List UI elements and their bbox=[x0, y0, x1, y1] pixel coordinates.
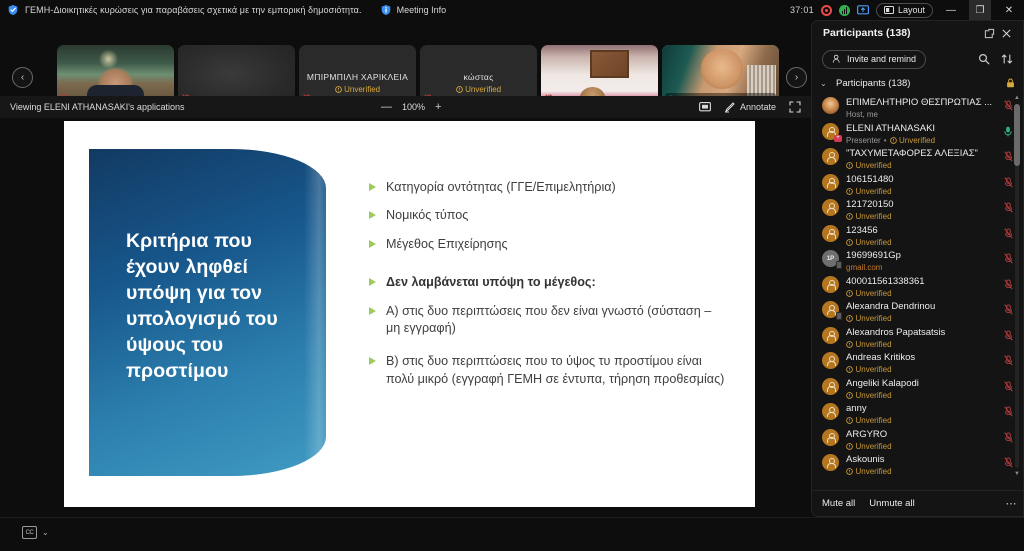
bullet-triangle-icon bbox=[369, 307, 376, 315]
shield-icon bbox=[7, 4, 19, 16]
bullet-triangle-icon bbox=[369, 211, 376, 219]
slide-bullet-heading: Δεν λαμβάνεται υπόψη το μέγεθος: bbox=[369, 274, 727, 291]
slide-bullet-text: Κατηγορία οντότητας (ΓΓΕ/Επιμελητήρια) bbox=[386, 179, 616, 196]
video-filmstrip: ‹ › ΜΠΙΡΜΠΙΛΗ ΧΑΡΙΚΛΕΙΑ Unverified bbox=[0, 20, 811, 94]
participant-row[interactable]: ARGYRO Unverified bbox=[812, 425, 1023, 451]
avatar bbox=[822, 378, 839, 395]
zoom-level-label: 100% bbox=[402, 102, 425, 112]
avatar bbox=[822, 327, 839, 344]
participants-panel-header: Participants (138) bbox=[812, 21, 1023, 45]
slide-bullet: Νομικός τύπος bbox=[369, 207, 727, 224]
mic-off-icon[interactable] bbox=[1001, 228, 1015, 239]
participant-name: 106151480 bbox=[846, 174, 894, 185]
closed-captions-icon: CC bbox=[22, 526, 37, 539]
participant-row[interactable]: 400011561338361 Unverified bbox=[812, 272, 1023, 298]
tile-participant-name: κώστας bbox=[420, 72, 537, 82]
filmstrip-prev-button[interactable]: ‹ bbox=[12, 67, 33, 88]
meeting-toolbar: CC ⌄ Unmute ⌄ Stop video ⌄ bbox=[0, 517, 1024, 551]
slide-bullet-list: Κατηγορία οντότητας (ΓΓΕ/Επιμελητήρια) Ν… bbox=[369, 179, 727, 399]
chevron-down-icon[interactable]: ⌄ bbox=[42, 528, 49, 537]
mic-on-icon[interactable] bbox=[1001, 126, 1015, 137]
unverified-label: Unverified bbox=[856, 467, 892, 476]
bullet-triangle-icon bbox=[369, 183, 376, 191]
window-controls: 37:01 Layout — ❐ ✕ bbox=[790, 0, 1024, 20]
participants-group-header[interactable]: ⌄ Participants (138) bbox=[812, 73, 1023, 93]
meeting-title: ΓΕΜΗ-Διοικητικές κυρώσεις για παραβάσεις… bbox=[25, 5, 362, 15]
participant-meta: 121720150 Unverified bbox=[846, 194, 994, 221]
slide-bullet-text: Μέγεθος Επιχείρησης bbox=[386, 236, 508, 253]
participant-name: Angeliki Kalapodi bbox=[846, 378, 919, 389]
window-title-bar: ΓΕΜΗ-Διοικητικές κυρώσεις για παραβάσεις… bbox=[0, 0, 1024, 20]
participant-name: anny bbox=[846, 403, 867, 414]
avatar bbox=[822, 454, 839, 471]
layout-button[interactable]: Layout bbox=[876, 3, 933, 18]
close-window-button[interactable]: ✕ bbox=[998, 0, 1020, 20]
participant-meta: Andreas Kritikos Unverified bbox=[846, 347, 994, 374]
participant-meta: 123456 Unverified bbox=[846, 220, 994, 247]
avatar bbox=[822, 174, 839, 191]
maximize-restore-button[interactable]: ❐ bbox=[969, 0, 991, 20]
network-quality-icon[interactable] bbox=[839, 5, 850, 16]
view-options-icon[interactable] bbox=[699, 101, 711, 113]
screen-share-status-icon[interactable] bbox=[857, 5, 869, 16]
mic-off-icon[interactable] bbox=[1001, 330, 1015, 341]
meeting-info-label: Meeting Info bbox=[397, 5, 447, 15]
zoom-meeting-window: ΓΕΜΗ-Διοικητικές κυρώσεις για παραβάσεις… bbox=[0, 0, 1024, 551]
unverified-badge: Unverified bbox=[846, 467, 892, 476]
meeting-timer: 37:01 bbox=[790, 5, 814, 15]
meeting-info-button[interactable]: Meeting Info bbox=[380, 4, 447, 16]
zoom-controls: — 100% + bbox=[381, 96, 441, 118]
tile-unverified-text: Unverified bbox=[344, 85, 380, 94]
participant-name: Alexandros Papatsatsis bbox=[846, 327, 945, 338]
viewing-label: Viewing ELENI ATHANASAKI's applications bbox=[10, 102, 184, 112]
participant-row[interactable]: 121720150 Unverified bbox=[812, 195, 1023, 221]
participant-meta: 19699691Gp gmail.com bbox=[846, 245, 994, 272]
tile-unverified-text: Unverified bbox=[465, 85, 501, 94]
tile-unverified-label: Unverified bbox=[420, 85, 537, 94]
tile-unverified-label: Unverified bbox=[299, 85, 416, 94]
participant-meta: ARGYRO Unverified bbox=[846, 424, 994, 451]
layout-icon bbox=[884, 6, 894, 14]
slide-bullet: Β) στις δυο περιπτώσεις που το ύψος τυ π… bbox=[369, 353, 727, 388]
participant-row[interactable]: anny Unverified bbox=[812, 399, 1023, 425]
bullet-triangle-icon bbox=[369, 240, 376, 248]
search-icon[interactable] bbox=[975, 51, 992, 68]
participant-row[interactable]: ΕΠΙΜΕΛΗΤΗΡΙΟ ΘΕΣΠΡΩΤΙΑΣ ... Host, me bbox=[812, 93, 1023, 119]
participant-meta: anny Unverified bbox=[846, 398, 994, 425]
participants-group-label: Participants (138) bbox=[836, 78, 1000, 89]
participants-more-button[interactable]: ⋯ bbox=[1006, 497, 1018, 510]
zoom-out-button[interactable]: — bbox=[381, 102, 392, 113]
device-badge-icon bbox=[836, 261, 842, 269]
mic-off-icon[interactable] bbox=[1001, 279, 1015, 290]
participant-row[interactable]: ELENI ATHANASAKI Presenter • Unverified bbox=[812, 119, 1023, 145]
avatar bbox=[822, 97, 839, 114]
slide-bullet: Κατηγορία οντότητας (ΓΓΕ/Επιμελητήρια) bbox=[369, 179, 727, 196]
mic-off-icon[interactable] bbox=[1001, 355, 1015, 366]
participant-role: Unverified bbox=[846, 467, 994, 476]
participant-name: "ΤΑΧΥΜΕΤΑΦΟΡΕΣ ΑΛΕΞΙΑΣ" bbox=[846, 148, 978, 159]
screen-share-viewing-bar: Viewing ELENI ATHANASAKI's applications … bbox=[0, 96, 811, 118]
slide-bullet-text: Νομικός τύπος bbox=[386, 207, 468, 224]
participant-name: ARGYRO bbox=[846, 429, 887, 440]
avatar bbox=[822, 352, 839, 369]
participants-list[interactable]: ΕΠΙΜΕΛΗΤΗΡΙΟ ΘΕΣΠΡΩΤΙΑΣ ... Host, me ELE… bbox=[812, 93, 1023, 479]
participant-name: Askounis bbox=[846, 454, 885, 465]
participant-meta: "ΤΑΧΥΜΕΤΑΦΟΡΕΣ ΑΛΕΞΙΑΣ" Unverified bbox=[846, 143, 994, 170]
mic-off-icon[interactable] bbox=[1001, 100, 1015, 111]
avatar: 1P bbox=[822, 250, 839, 267]
zoom-in-button[interactable]: + bbox=[435, 102, 441, 113]
filmstrip-next-button[interactable]: › bbox=[786, 67, 807, 88]
participant-row[interactable]: Alexandros Papatsatsis Unverified bbox=[812, 323, 1023, 349]
mic-off-icon[interactable] bbox=[1001, 177, 1015, 188]
participant-meta: 106151480 Unverified bbox=[846, 169, 994, 196]
avatar bbox=[822, 403, 839, 420]
participant-name: 121720150 bbox=[846, 199, 894, 210]
scroll-up-icon[interactable]: ▲ bbox=[1014, 95, 1020, 101]
mic-off-icon[interactable] bbox=[1001, 457, 1015, 468]
avatar bbox=[822, 301, 839, 318]
scrollbar-thumb[interactable] bbox=[1014, 104, 1020, 166]
participant-name: 400011561338361 bbox=[846, 276, 925, 287]
participant-row[interactable]: Alexandra Dendrinou Unverified bbox=[812, 297, 1023, 323]
slide-bullet: Μέγεθος Επιχείρησης bbox=[369, 236, 727, 253]
mute-all-button[interactable]: Mute all bbox=[822, 498, 855, 509]
viewing-bar-actions: Annotate bbox=[699, 96, 811, 118]
mic-off-icon[interactable] bbox=[1001, 304, 1015, 315]
mic-off-icon[interactable] bbox=[1001, 202, 1015, 213]
participant-name: 19699691Gp bbox=[846, 250, 901, 261]
mic-off-icon[interactable] bbox=[1001, 406, 1015, 417]
slide-bullet-text: Α) στις δυο περιπτώσεις που δεν είναι γν… bbox=[386, 303, 727, 338]
closed-captions-button[interactable]: CC ⌄ bbox=[22, 526, 49, 539]
participant-meta: ELENI ATHANASAKI Presenter • Unverified bbox=[846, 118, 994, 145]
mic-off-icon[interactable] bbox=[1001, 432, 1015, 443]
annotate-button[interactable]: Annotate bbox=[724, 101, 776, 113]
participant-row[interactable]: Andreas Kritikos Unverified bbox=[812, 348, 1023, 374]
slide-bullet-text: Β) στις δυο περιπτώσεις που το ύψος τυ π… bbox=[386, 353, 727, 388]
presenter-badge-icon bbox=[834, 135, 842, 142]
bullet-triangle-icon bbox=[369, 278, 376, 286]
slide-title-panel: Κριτήρια που έχουν ληφθεί υπόψη για τον … bbox=[89, 149, 326, 476]
avatar bbox=[822, 276, 839, 293]
participant-meta: Alexandros Papatsatsis Unverified bbox=[846, 322, 994, 349]
participant-row[interactable]: 1P 19699691Gp gmail.com bbox=[812, 246, 1023, 272]
participants-scrollbar[interactable]: ▲ ▼ bbox=[1014, 97, 1020, 475]
shared-content-stage: Κριτήρια που έχουν ληφθεί υπόψη για τον … bbox=[0, 118, 811, 517]
slide-bullet-text: Δεν λαμβάνεται υπόψη το μέγεθος: bbox=[386, 274, 596, 291]
invite-and-remind-button[interactable]: Invite and remind bbox=[822, 50, 926, 69]
avatar bbox=[822, 148, 839, 165]
participant-name: ELENI ATHANASAKI bbox=[846, 123, 935, 134]
avatar bbox=[822, 199, 839, 216]
bullet-triangle-icon bbox=[369, 357, 376, 365]
avatar bbox=[822, 123, 839, 140]
annotate-label: Annotate bbox=[740, 102, 776, 112]
minimize-button[interactable]: — bbox=[940, 0, 962, 20]
participant-meta: Angeliki Kalapodi Unverified bbox=[846, 373, 994, 400]
participant-row[interactable]: Askounis Unverified bbox=[812, 450, 1023, 476]
close-icon[interactable] bbox=[998, 25, 1015, 42]
person-add-icon bbox=[832, 54, 842, 64]
slide-title: Κριτήρια που έχουν ληφθεί υπόψη για τον … bbox=[126, 229, 306, 385]
participant-meta: Askounis Unverified bbox=[846, 449, 994, 476]
fullscreen-icon[interactable] bbox=[789, 101, 801, 113]
participants-panel-footer: Mute all Unmute all ⋯ bbox=[812, 490, 1023, 516]
recording-indicator-icon[interactable] bbox=[821, 5, 832, 16]
chevron-down-icon: ⌄ bbox=[820, 79, 830, 88]
participant-name: 123456 bbox=[846, 225, 878, 236]
layout-label: Layout bbox=[898, 5, 925, 15]
participants-panel: Participants (138) Invite and remind bbox=[811, 20, 1024, 517]
participant-row[interactable]: 106151480 Unverified bbox=[812, 170, 1023, 196]
mic-off-icon[interactable] bbox=[1001, 151, 1015, 162]
shield-info-icon bbox=[380, 4, 392, 16]
pop-out-icon[interactable] bbox=[981, 25, 998, 42]
participant-meta: Alexandra Dendrinou Unverified bbox=[846, 296, 994, 323]
participants-panel-actions: Invite and remind bbox=[812, 45, 1023, 73]
device-badge-icon bbox=[836, 312, 842, 320]
participant-name: Andreas Kritikos bbox=[846, 352, 915, 363]
mic-off-icon[interactable] bbox=[1001, 253, 1015, 264]
sort-icon[interactable] bbox=[998, 51, 1015, 68]
participants-panel-title: Participants (138) bbox=[823, 27, 981, 39]
scroll-down-icon[interactable]: ▼ bbox=[1014, 471, 1020, 477]
invite-label: Invite and remind bbox=[847, 54, 916, 64]
participant-meta: 400011561338361 Unverified bbox=[846, 271, 994, 298]
presentation-slide: Κριτήρια που έχουν ληφθεί υπόψη για τον … bbox=[64, 121, 755, 507]
annotate-pen-icon bbox=[724, 101, 736, 113]
tile-participant-name: ΜΠΙΡΜΠΙΛΗ ΧΑΡΙΚΛΕΙΑ bbox=[299, 72, 416, 82]
avatar bbox=[822, 225, 839, 242]
participant-meta: ΕΠΙΜΕΛΗΤΗΡΙΟ ΘΕΣΠΡΩΤΙΑΣ ... Host, me bbox=[846, 93, 994, 119]
avatar bbox=[822, 429, 839, 446]
mic-off-icon[interactable] bbox=[1001, 381, 1015, 392]
participant-name: Alexandra Dendrinou bbox=[846, 301, 935, 312]
participant-row[interactable]: 123456 Unverified bbox=[812, 221, 1023, 247]
participant-row[interactable]: Angeliki Kalapodi Unverified bbox=[812, 374, 1023, 400]
lock-icon bbox=[1006, 78, 1015, 88]
participant-name: ΕΠΙΜΕΛΗΤΗΡΙΟ ΘΕΣΠΡΩΤΙΑΣ ... bbox=[846, 97, 992, 108]
participant-row[interactable]: "ΤΑΧΥΜΕΤΑΦΟΡΕΣ ΑΛΕΞΙΑΣ" Unverified bbox=[812, 144, 1023, 170]
slide-bullet: Α) στις δυο περιπτώσεις που δεν είναι γν… bbox=[369, 303, 727, 338]
unmute-all-button[interactable]: Unmute all bbox=[869, 498, 914, 509]
